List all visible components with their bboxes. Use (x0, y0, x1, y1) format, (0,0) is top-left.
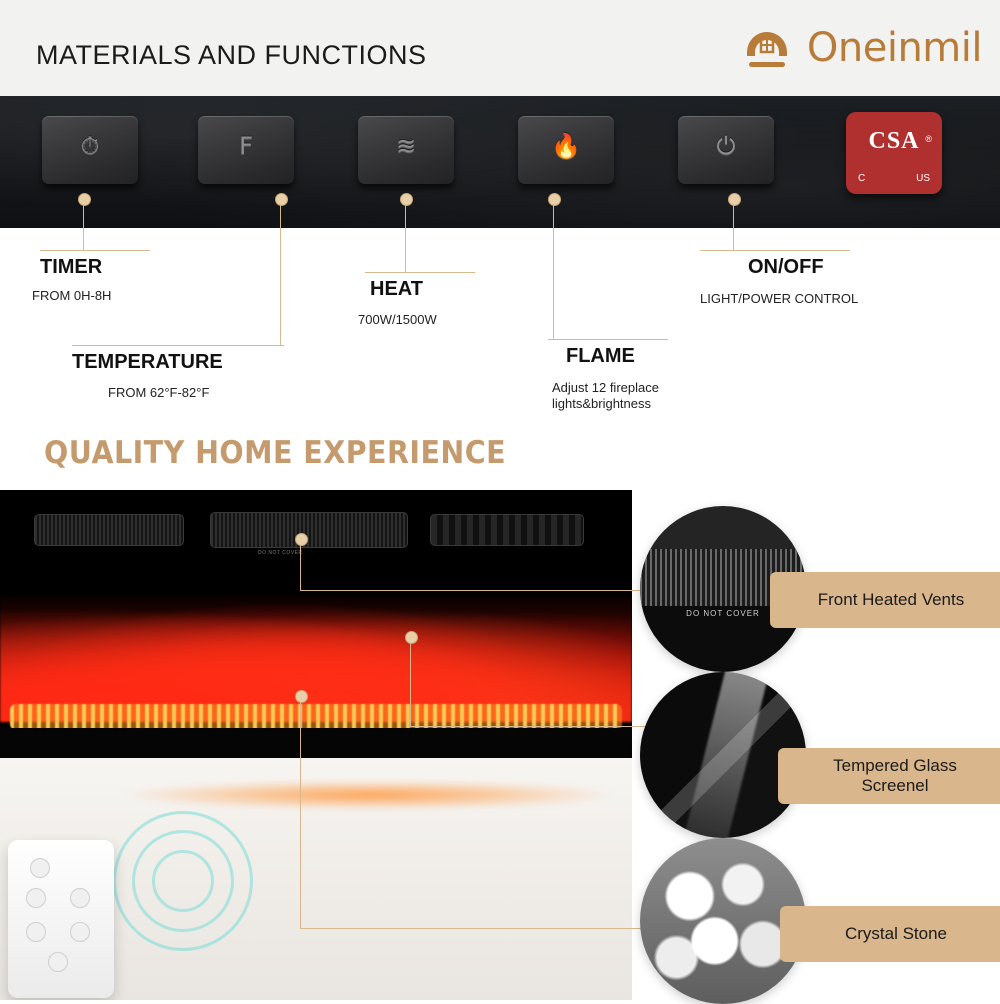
detail-label-tempered-glass-line2: Screenel (861, 776, 928, 796)
callout-subtitle-flame-line1: Adjust 12 fireplace (552, 380, 659, 395)
callout-leader-flame (553, 204, 554, 339)
temperature-button[interactable]: F (198, 116, 294, 184)
flame-button[interactable]: 🔥 (518, 116, 614, 184)
remote-button-2[interactable] (70, 888, 90, 908)
oneinmil-arch-logo-icon (739, 22, 795, 74)
heat-waves-icon: ≋ (358, 134, 454, 158)
detail-dot-glass (405, 631, 418, 644)
remote-button-3[interactable] (26, 922, 46, 942)
detail-label-front-heated-vents: Front Heated Vents (770, 572, 1000, 628)
remote-button-4[interactable] (70, 922, 90, 942)
callout-title-onoff: ON/OFF (748, 256, 824, 279)
callout-subtitle-temperature: FROM 62°F-82°F (108, 385, 209, 400)
heat-button[interactable]: ≋ (358, 116, 454, 184)
signal-waves-icon (118, 816, 248, 946)
detail-leader-vents-horizontal (300, 590, 648, 591)
callout-dot-temperature (275, 193, 288, 206)
page-title: MATERIALS AND FUNCTIONS (36, 40, 427, 71)
product-infographic-page: MATERIALS AND FUNCTIONS Oneinmil ⏱ F ≋ (0, 0, 1000, 1000)
brand-lockup: Oneinmil (739, 22, 982, 74)
remote-control-photo (0, 758, 632, 1000)
callout-subtitle-onoff: LIGHT/POWER CONTROL (700, 291, 858, 306)
callout-title-temperature: TEMPERATURE (72, 351, 223, 374)
flame-effect (0, 592, 632, 722)
detail-dot-crystal (295, 690, 308, 703)
timer-button[interactable]: ⏱ (42, 116, 138, 184)
csa-us-label: US (916, 173, 930, 184)
callout-underline-timer (40, 250, 150, 251)
left-vent-icon (34, 514, 184, 546)
callout-underline-onoff (700, 250, 850, 251)
callout-leader-onoff (733, 204, 734, 250)
detail-leader-crystal-horizontal (300, 928, 648, 929)
callout-leader-heat (405, 204, 406, 272)
detail-label-tempered-glass-line1: Tempered Glass (833, 756, 957, 776)
flame-icon: 🔥 (518, 134, 614, 158)
detail-label-tempered-glass: Tempered Glass Screenel (778, 748, 1000, 804)
callout-subtitle-flame-line2: lights&brightness (552, 396, 651, 411)
callout-dot-onoff (728, 193, 741, 206)
fireplace-photo: DO NOT COVER (0, 490, 632, 758)
fireplace-base (0, 728, 632, 758)
callout-title-heat: HEAT (370, 278, 423, 301)
detail-leader-crystal-vertical (300, 695, 301, 928)
remote-control-device[interactable] (8, 840, 114, 998)
callout-leader-temperature (280, 204, 281, 345)
callout-leader-timer (83, 204, 84, 250)
callout-subtitle-timer: FROM 0H-8H (32, 288, 111, 303)
flame-glow (120, 780, 620, 810)
callout-title-flame: FLAME (566, 345, 635, 368)
remote-button-1[interactable] (26, 888, 46, 908)
control-panel-photo: ⏱ F ≋ 🔥 ⏻ CSA ® C US (0, 96, 1000, 228)
header-bar: MATERIALS AND FUNCTIONS Oneinmil (0, 0, 1000, 96)
brand-name: Oneinmil (807, 25, 982, 71)
right-vent-icon (430, 514, 584, 546)
callout-underline-temperature (72, 345, 284, 346)
detail-label-crystal-stone: Crystal Stone (780, 906, 1000, 962)
remote-button-5[interactable] (48, 952, 68, 972)
csa-certification-badge: CSA ® C US (846, 112, 942, 194)
callout-dot-timer (78, 193, 91, 206)
registered-icon: ® (925, 134, 932, 144)
callout-dot-heat (400, 193, 413, 206)
callout-underline-heat (365, 272, 475, 273)
section-title-quality-home-experience: QUALITY HOME EXPERIENCE (44, 435, 506, 471)
callout-title-timer: TIMER (40, 256, 102, 279)
fahrenheit-icon: F (198, 134, 294, 158)
callout-subtitle-heat: 700W/1500W (358, 312, 437, 327)
timer-icon: ⏱ (42, 134, 138, 158)
callout-dot-flame (548, 193, 561, 206)
detail-leader-glass-vertical (410, 636, 411, 726)
csa-c-label: C (858, 173, 865, 184)
power-icon: ⏻ (678, 134, 774, 158)
detail-dot-vents (295, 533, 308, 546)
remote-power-button[interactable] (30, 858, 50, 878)
center-heated-vent-icon (210, 512, 408, 548)
do-not-cover-caption: DO NOT COVER (258, 550, 303, 556)
callout-underline-flame (548, 339, 668, 340)
power-button[interactable]: ⏻ (678, 116, 774, 184)
detail-leader-glass-horizontal (410, 726, 648, 727)
